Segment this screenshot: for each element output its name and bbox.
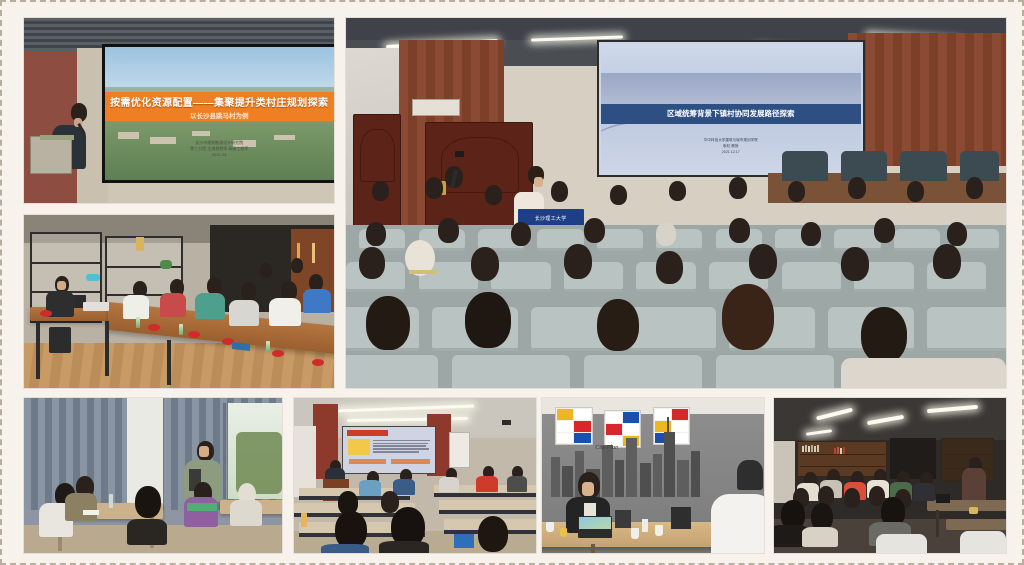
mondrian-artwork: [555, 407, 592, 445]
shelf-board: [800, 454, 885, 456]
mural-building: [626, 438, 637, 497]
credit-line: 2021.04: [105, 152, 334, 158]
art-block-red: [606, 424, 622, 435]
lectern-top: [40, 135, 74, 140]
panel-studio-office-mondrian-wall[interactable]: City Plan: [542, 398, 764, 553]
shelf-board: [32, 262, 100, 264]
auditorium-seat[interactable]: [346, 355, 438, 388]
mural-spire: [667, 417, 669, 436]
cabinet-bottle: [312, 243, 315, 263]
audience-head: [366, 222, 386, 246]
mural-building: [653, 454, 662, 497]
foreground-student-body: [321, 544, 369, 553]
projector: [83, 302, 109, 311]
book: [805, 445, 807, 452]
student-body: [359, 480, 381, 496]
foreground-student-head: [478, 516, 508, 552]
attendee-body: [123, 295, 149, 319]
audience-head: [669, 181, 686, 201]
attendee-head: [291, 258, 303, 273]
shelf-board: [943, 454, 992, 456]
book: [808, 446, 810, 452]
audience-head: [933, 244, 961, 279]
foreground-head: [722, 284, 774, 350]
drink-cup: [560, 528, 567, 537]
podium-speaker-face: [534, 177, 543, 187]
projection-screen: 按需优化资源配置——集聚提升类村庄规划探索 以长沙县跳马村为例 长沙市规划勘测设…: [102, 44, 335, 183]
wall-sign: [412, 99, 460, 116]
audience-head: [788, 181, 805, 202]
stage-chair: [841, 151, 887, 181]
art-block-blue: [574, 433, 590, 444]
art-block-white: [557, 433, 573, 444]
panel-4-scene: [24, 398, 282, 553]
auditorium-seat[interactable]: [491, 262, 550, 292]
audience-head: [848, 177, 866, 199]
art-block-white: [672, 421, 688, 432]
photo-collage: 按需优化资源配置——集聚提升类村庄规划探索 以长沙县跳马村为例 长沙市规划勘测设…: [0, 0, 1024, 565]
slide-text-line: [373, 443, 428, 445]
audience-head: [564, 244, 592, 279]
lectern: [30, 136, 72, 174]
panel-speaker-with-projection-screen[interactable]: 按需优化资源配置——集聚提升类村庄规划探索 以长沙县跳马村为例 长沙市规划勘测设…: [24, 18, 334, 203]
mural-building: [677, 460, 688, 497]
slide-title-band: 按需优化资源配置——集聚提升类村庄规划探索 以长沙县跳马村为例: [105, 92, 334, 121]
slide-yellow-box: [348, 439, 370, 455]
hat-band: [409, 270, 437, 274]
book: [837, 447, 839, 454]
smartphone: [455, 151, 464, 157]
panel-long-table-seminar[interactable]: [24, 215, 334, 388]
panel-5-scene: [294, 398, 536, 553]
village-roof: [118, 132, 139, 139]
table-leg: [167, 340, 171, 385]
wood-wall-right: [848, 33, 1006, 166]
flower-arrangement: [312, 359, 324, 366]
audience-head: [584, 218, 605, 243]
audience-head: [656, 251, 683, 284]
seated-person-face: [582, 482, 594, 496]
audience-head: [966, 177, 983, 199]
slide-red-header: [347, 430, 388, 436]
audience-head: [551, 181, 568, 202]
table-leg: [936, 510, 939, 538]
student-sweater-stripe: [187, 503, 217, 511]
wall-speaker: [502, 420, 511, 425]
white-chair: [876, 534, 927, 553]
attendee-body: [303, 289, 331, 313]
foreground-head: [366, 296, 410, 350]
audience-head: [438, 218, 459, 243]
attendee-body: [160, 293, 186, 317]
table-leg: [591, 544, 595, 553]
audience-head: [801, 222, 821, 246]
paper-cup: [655, 525, 663, 536]
audience-head: [907, 181, 924, 202]
student-head: [135, 486, 161, 518]
art-block-white: [574, 409, 590, 420]
audience-head: [947, 222, 967, 246]
stage-slide-title-band: 区域统筹背景下镇村协同发展路径探索: [601, 104, 861, 125]
panel-2-scene: 区域统筹背景下镇村协同发展路径探索 华中科技大学建筑与城市规划学院 耿虹 教授 …: [346, 18, 1006, 388]
audience-head: [844, 488, 860, 508]
attendee-body: [229, 300, 259, 326]
standing-presenter-face: [199, 446, 209, 457]
laptop-screen: [579, 517, 611, 529]
water-bottle: [109, 494, 113, 508]
attendee-body: [195, 293, 225, 319]
table-leg: [105, 321, 109, 376]
art-block-white: [623, 424, 639, 435]
stage-chair: [782, 151, 828, 181]
panel-library-reading-room-talk[interactable]: [774, 398, 1006, 553]
foreground-body: [802, 527, 838, 547]
art-block-blue: [623, 412, 639, 423]
art-block-white: [557, 421, 573, 432]
art-block-red: [574, 421, 590, 432]
mural-building: [615, 460, 624, 497]
book: [843, 447, 845, 454]
notice-board: [449, 432, 470, 468]
student-body: [439, 477, 459, 492]
slide-text-line: [373, 440, 430, 442]
flower-arrangement: [148, 324, 160, 331]
slide-text-line: [373, 451, 419, 453]
student-body: [507, 476, 527, 492]
auditorium-seat[interactable]: [716, 355, 835, 388]
slide-orange-block: [391, 459, 430, 465]
auditorium-seat[interactable]: [894, 229, 940, 251]
audience-head: [874, 218, 895, 243]
water-bottle: [136, 317, 140, 328]
book: [802, 446, 804, 452]
student-body: [393, 479, 415, 495]
drink-bottle: [301, 513, 307, 527]
equipment-box: [671, 507, 691, 529]
student-body: [476, 476, 498, 492]
panel-6-scene: City Plan: [542, 398, 764, 553]
audience-head: [511, 222, 531, 246]
shelf-board: [800, 466, 885, 468]
audience-head: [471, 247, 499, 281]
student-body: [184, 497, 218, 527]
backpack: [454, 534, 474, 548]
audience-head: [359, 247, 385, 279]
standing-person: [737, 460, 763, 490]
student-body: [127, 519, 167, 545]
monitor-back: [615, 510, 631, 528]
book-row: [802, 443, 819, 452]
slide-subtitle: 以长沙县跳马村为例: [190, 110, 249, 120]
presenter-legs: [49, 327, 71, 353]
attendee-head: [309, 274, 323, 291]
foreground-shoulders: [841, 358, 1006, 388]
student-head: [381, 491, 399, 513]
audience-head: [656, 222, 676, 246]
art-block-red: [672, 409, 688, 420]
projected-slide: [342, 426, 436, 475]
paper-sheet: [83, 510, 99, 515]
panel-1-scene: 按需优化资源配置——集聚提升类村庄规划探索 以长沙县跳马村为例 长沙市规划勘测设…: [24, 18, 334, 203]
mural-building: [691, 451, 700, 498]
foreground-head: [465, 292, 511, 348]
auditorium-seat[interactable]: [584, 355, 703, 388]
window-frame: [223, 403, 226, 499]
standing-speaker-body: [962, 468, 986, 502]
foreground-head: [861, 307, 907, 363]
auditorium-seat[interactable]: [782, 262, 841, 292]
white-door: [774, 441, 795, 503]
white-cabinet: [294, 426, 316, 497]
shelf-decor: [136, 237, 144, 251]
slide-text-line: [373, 448, 429, 450]
slide-credits: 长沙市规划勘测设计研究院 第三分院 主创规划师 高级工程师 2021.04: [105, 140, 334, 159]
paper-cup: [546, 522, 554, 532]
panel-curtained-classroom-discussion[interactable]: [24, 398, 282, 553]
laptop: [578, 516, 612, 538]
mural-building: [664, 432, 675, 497]
laptop: [936, 494, 950, 503]
panel-tiered-lecture-classroom[interactable]: [294, 398, 536, 553]
table-leg: [36, 321, 40, 380]
village-roof: [192, 131, 210, 136]
book-row: [834, 445, 845, 454]
podium-plaque-text: 长沙理工大学: [535, 215, 567, 222]
mural-building: [640, 463, 651, 497]
water-bottle: [179, 324, 183, 335]
stage-chair: [960, 151, 1000, 181]
bottle: [642, 519, 648, 532]
audience-head: [841, 247, 869, 281]
panel-main-auditorium-lecture[interactable]: 区域统筹背景下镇村协同发展路径探索 华中科技大学建筑与城市规划学院 耿虹 教授 …: [346, 18, 1006, 388]
auditorium-seat[interactable]: [630, 307, 716, 351]
slide-title: 按需优化资源配置——集聚提升类村庄规划探索: [110, 94, 328, 109]
mural-city-plan-text: City Plan: [595, 445, 618, 451]
art-block-white: [606, 412, 622, 423]
audience-head: [425, 177, 443, 199]
art-block-yellow: [557, 409, 573, 420]
book: [834, 448, 836, 454]
potted-plant: [160, 260, 172, 269]
audience-head: [729, 177, 747, 199]
auditorium-seat[interactable]: [452, 355, 571, 388]
panel-3-scene: [24, 215, 334, 388]
attendee-body: [269, 298, 301, 326]
library-table: [946, 519, 1006, 530]
book: [817, 445, 819, 452]
stage-slide-title: 区域统筹背景下镇村协同发展路径探索: [667, 108, 795, 119]
slide-orange-block: [349, 459, 386, 465]
presenter-face: [57, 281, 66, 290]
panel-7-scene: [774, 398, 1006, 553]
auditorium-seat[interactable]: [927, 307, 1006, 351]
mural-building: [562, 466, 573, 497]
water-bottle: [266, 341, 270, 352]
snack-plate: [969, 507, 978, 514]
flower-arrangement: [272, 350, 284, 357]
foreground-student-body: [379, 541, 429, 553]
book: [814, 446, 816, 452]
student-body: [65, 493, 97, 521]
book: [811, 445, 813, 452]
audience-head: [749, 244, 777, 279]
stage-chair: [900, 151, 946, 181]
paper-cup: [631, 528, 639, 539]
foreground-head: [597, 299, 639, 351]
white-chair: [960, 531, 1006, 553]
slide-text-line: [373, 445, 426, 447]
mural-building: [551, 457, 560, 497]
attendee-head: [260, 263, 272, 278]
student-desk-row: [439, 500, 536, 509]
audience-head: [610, 185, 627, 205]
blue-basin: [86, 274, 100, 281]
audience-head: [729, 218, 750, 243]
flower-arrangement: [40, 310, 52, 317]
attendee-head: [241, 282, 256, 301]
mural-building: [602, 445, 613, 498]
office-partition: [711, 494, 764, 553]
student-body: [230, 500, 262, 526]
audience-head: [372, 181, 389, 201]
audience-body: [913, 483, 935, 501]
book: [840, 448, 842, 454]
audience-head: [485, 185, 502, 205]
